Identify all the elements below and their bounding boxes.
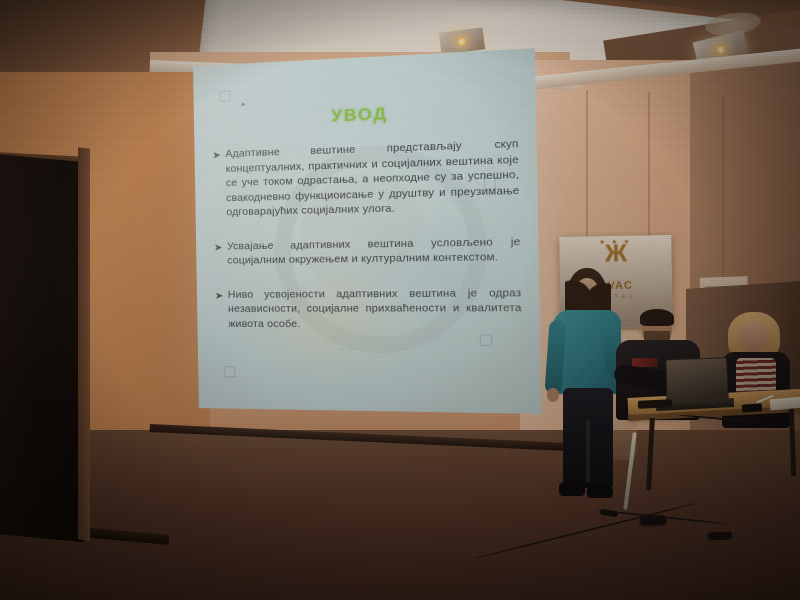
presenter-leg-gap: [586, 420, 590, 482]
slide-bullet: ➤ Адаптивне вештине представљају скуп ко…: [212, 136, 520, 220]
bullet-arrow-icon: ➤: [214, 239, 227, 255]
projection-screen: УВОД ➤ Адаптивне вештине представљају ск…: [193, 48, 542, 414]
slide-corner-mark: [224, 366, 235, 377]
door-frame: [78, 147, 90, 540]
bullet-arrow-icon: ➤: [215, 287, 228, 303]
presenter-hand: [547, 388, 559, 402]
photo-scene: УВОД ➤ Адаптивне вештине представљају ск…: [0, 0, 800, 600]
floor: [0, 430, 800, 600]
power-adapter: [708, 532, 732, 541]
presenter-shoe: [587, 484, 613, 498]
slide-corner-mark: [219, 90, 230, 102]
bullet-arrow-icon: ➤: [212, 147, 225, 164]
slide-body: ➤ Адаптивне вештине представљају скуп ко…: [212, 136, 522, 351]
slide-bullet: ➤ Усвајање адаптивних вештина условљено …: [214, 234, 521, 268]
slide-bullet-text: Усвајање адаптивних вештина условљено је…: [227, 234, 521, 268]
mobile-phone[interactable]: [742, 403, 763, 412]
slide-bullet: ➤ Ниво усвојености адаптивних вештина је…: [215, 285, 522, 331]
spotlight-bulb: [715, 44, 726, 55]
door[interactable]: [0, 154, 84, 543]
power-adapter: [640, 515, 666, 525]
attendee-face: [738, 322, 768, 352]
spotlight-bulb: [457, 37, 467, 47]
presenter-shoe: [559, 482, 585, 496]
slide-speck: [242, 103, 245, 106]
slide-title: УВОД: [194, 97, 536, 132]
slide-bullet-text: Ниво усвојености адаптивних вештина је о…: [228, 285, 522, 331]
slide-surface: УВОД ➤ Адаптивне вештине представљају ск…: [193, 48, 542, 414]
slide-bullet-text: Адаптивне вештине представљају скуп конц…: [225, 136, 520, 219]
attendee-hair: [640, 309, 674, 326]
